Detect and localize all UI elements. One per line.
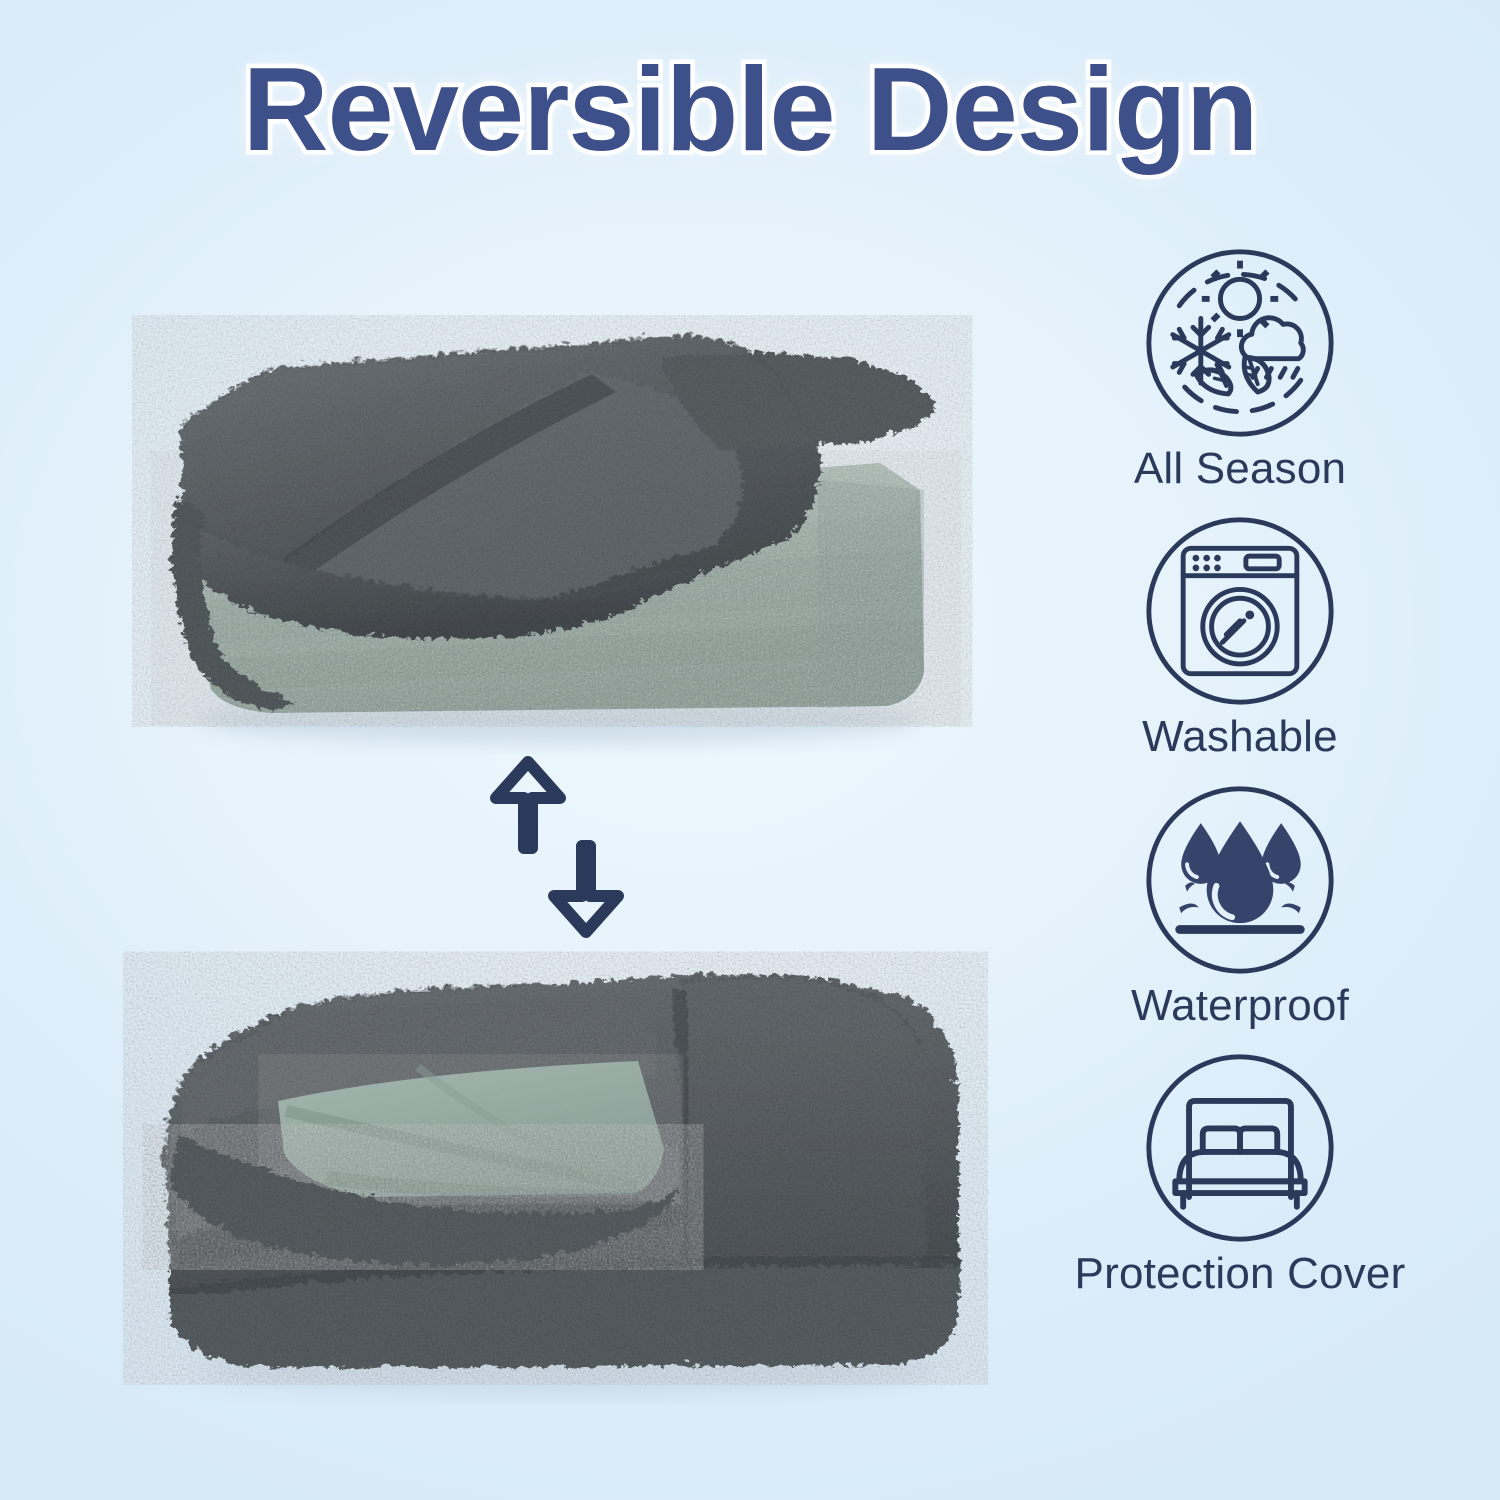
- water-droplets-icon: [1142, 782, 1338, 978]
- feature-label-protection-cover: Protection Cover: [1030, 1250, 1450, 1298]
- all-season-icon: [1142, 245, 1338, 441]
- feature-list: All Season: [1030, 245, 1450, 1299]
- feature-label-all-season: All Season: [1030, 445, 1450, 493]
- infographic-page: Reversible Design: [0, 0, 1500, 1500]
- up-down-reversible-arrows: [462, 752, 652, 942]
- feature-item-washable: Washable: [1030, 513, 1450, 761]
- washing-machine-icon: [1142, 513, 1338, 709]
- blanket-sherpa-side-up-image: [118, 935, 988, 1405]
- feature-item-all-season: All Season: [1030, 245, 1450, 493]
- feature-label-washable: Washable: [1030, 713, 1450, 761]
- feature-item-waterproof: Waterproof: [1030, 782, 1450, 1030]
- bed-icon: [1142, 1050, 1338, 1246]
- feature-label-waterproof: Waterproof: [1030, 982, 1450, 1030]
- down-arrow-icon: [554, 846, 618, 932]
- blanket-fleece-side-up-image: [118, 300, 988, 760]
- page-title: Reversible Design: [0, 48, 1500, 173]
- up-arrow-icon: [496, 762, 560, 848]
- feature-item-protection-cover: Protection Cover: [1030, 1050, 1450, 1298]
